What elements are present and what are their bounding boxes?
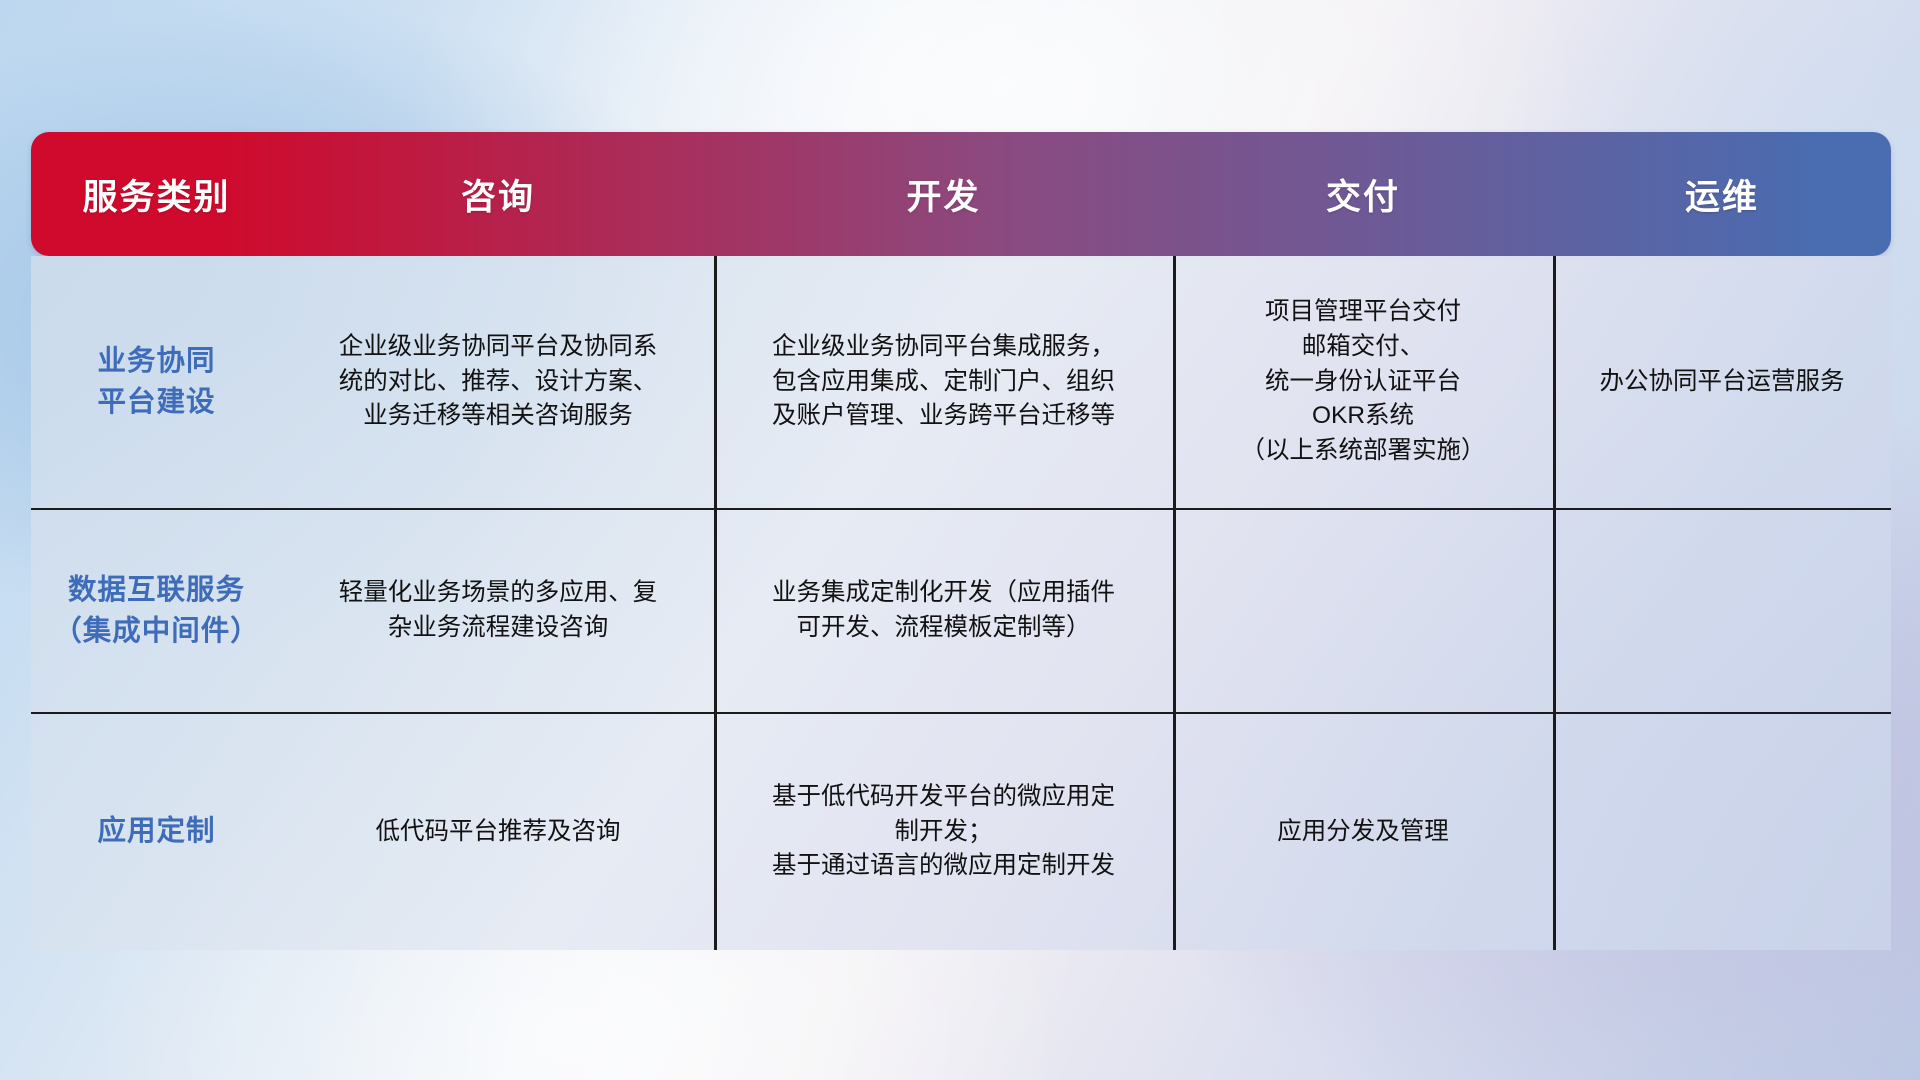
cell-development: 企业级业务协同平台集成服务， 包含应用集成、定制门户、组织 及账户管理、业务跨平… xyxy=(714,256,1173,508)
cell-delivery xyxy=(1173,510,1553,712)
cell-development: 基于低代码开发平台的微应用定 制开发； 基于通过语言的微应用定制开发 xyxy=(714,714,1173,950)
column-divider xyxy=(1173,256,1176,508)
cell-delivery: 应用分发及管理 xyxy=(1173,714,1553,950)
cell-operations xyxy=(1553,714,1891,950)
table-body: 业务协同 平台建设 企业级业务协同平台及协同系 统的对比、推荐、设计方案、 业务… xyxy=(31,256,1891,950)
column-header-development: 开发 xyxy=(714,132,1173,256)
cell-consulting: 轻量化业务场景的多应用、复 杂业务流程建设咨询 xyxy=(282,510,714,712)
column-header-operations: 运维 xyxy=(1553,132,1891,256)
cell-category: 应用定制 xyxy=(31,714,282,950)
column-header-consulting: 咨询 xyxy=(282,132,714,256)
cell-delivery: 项目管理平台交付 邮箱交付、 统一身份认证平台 OKR系统 （以上系统部署实施） xyxy=(1173,256,1553,508)
cell-consulting: 企业级业务协同平台及协同系 统的对比、推荐、设计方案、 业务迁移等相关咨询服务 xyxy=(282,256,714,508)
column-header-delivery: 交付 xyxy=(1173,132,1553,256)
column-divider xyxy=(1553,256,1556,508)
column-divider xyxy=(1173,714,1176,950)
cell-operations: 办公协同平台运营服务 xyxy=(1553,256,1891,508)
column-header-category: 服务类别 xyxy=(31,132,282,256)
column-divider xyxy=(714,510,717,712)
column-divider xyxy=(1553,510,1556,712)
column-header-consulting-label: 咨询 xyxy=(461,169,535,220)
column-header-delivery-label: 交付 xyxy=(1326,169,1400,220)
cell-development: 业务集成定制化开发（应用插件 可开发、流程模板定制等） xyxy=(714,510,1173,712)
cell-operations xyxy=(1553,510,1891,712)
column-divider xyxy=(1553,714,1556,950)
column-header-operations-label: 运维 xyxy=(1685,169,1759,220)
service-matrix-table: 服务类别 咨询 开发 交付 运维 业务协同 平台建设 企业级业务协同平台及协同系… xyxy=(31,132,1891,950)
table-row: 业务协同 平台建设 企业级业务协同平台及协同系 统的对比、推荐、设计方案、 业务… xyxy=(31,256,1891,508)
column-header-category-label: 服务类别 xyxy=(82,169,230,220)
column-divider xyxy=(714,714,717,950)
table-row: 应用定制 低代码平台推荐及咨询 基于低代码开发平台的微应用定 制开发； 基于通过… xyxy=(31,712,1891,950)
table-row: 数据互联服务 （集成中间件） 轻量化业务场景的多应用、复 杂业务流程建设咨询 业… xyxy=(31,508,1891,712)
cell-category: 数据互联服务 （集成中间件） xyxy=(31,510,282,712)
cell-consulting: 低代码平台推荐及咨询 xyxy=(282,714,714,950)
column-divider xyxy=(1173,510,1176,712)
column-header-development-label: 开发 xyxy=(906,169,980,220)
column-divider xyxy=(714,256,717,508)
table-header-row: 服务类别 咨询 开发 交付 运维 xyxy=(31,132,1891,256)
cell-category: 业务协同 平台建设 xyxy=(31,256,282,508)
